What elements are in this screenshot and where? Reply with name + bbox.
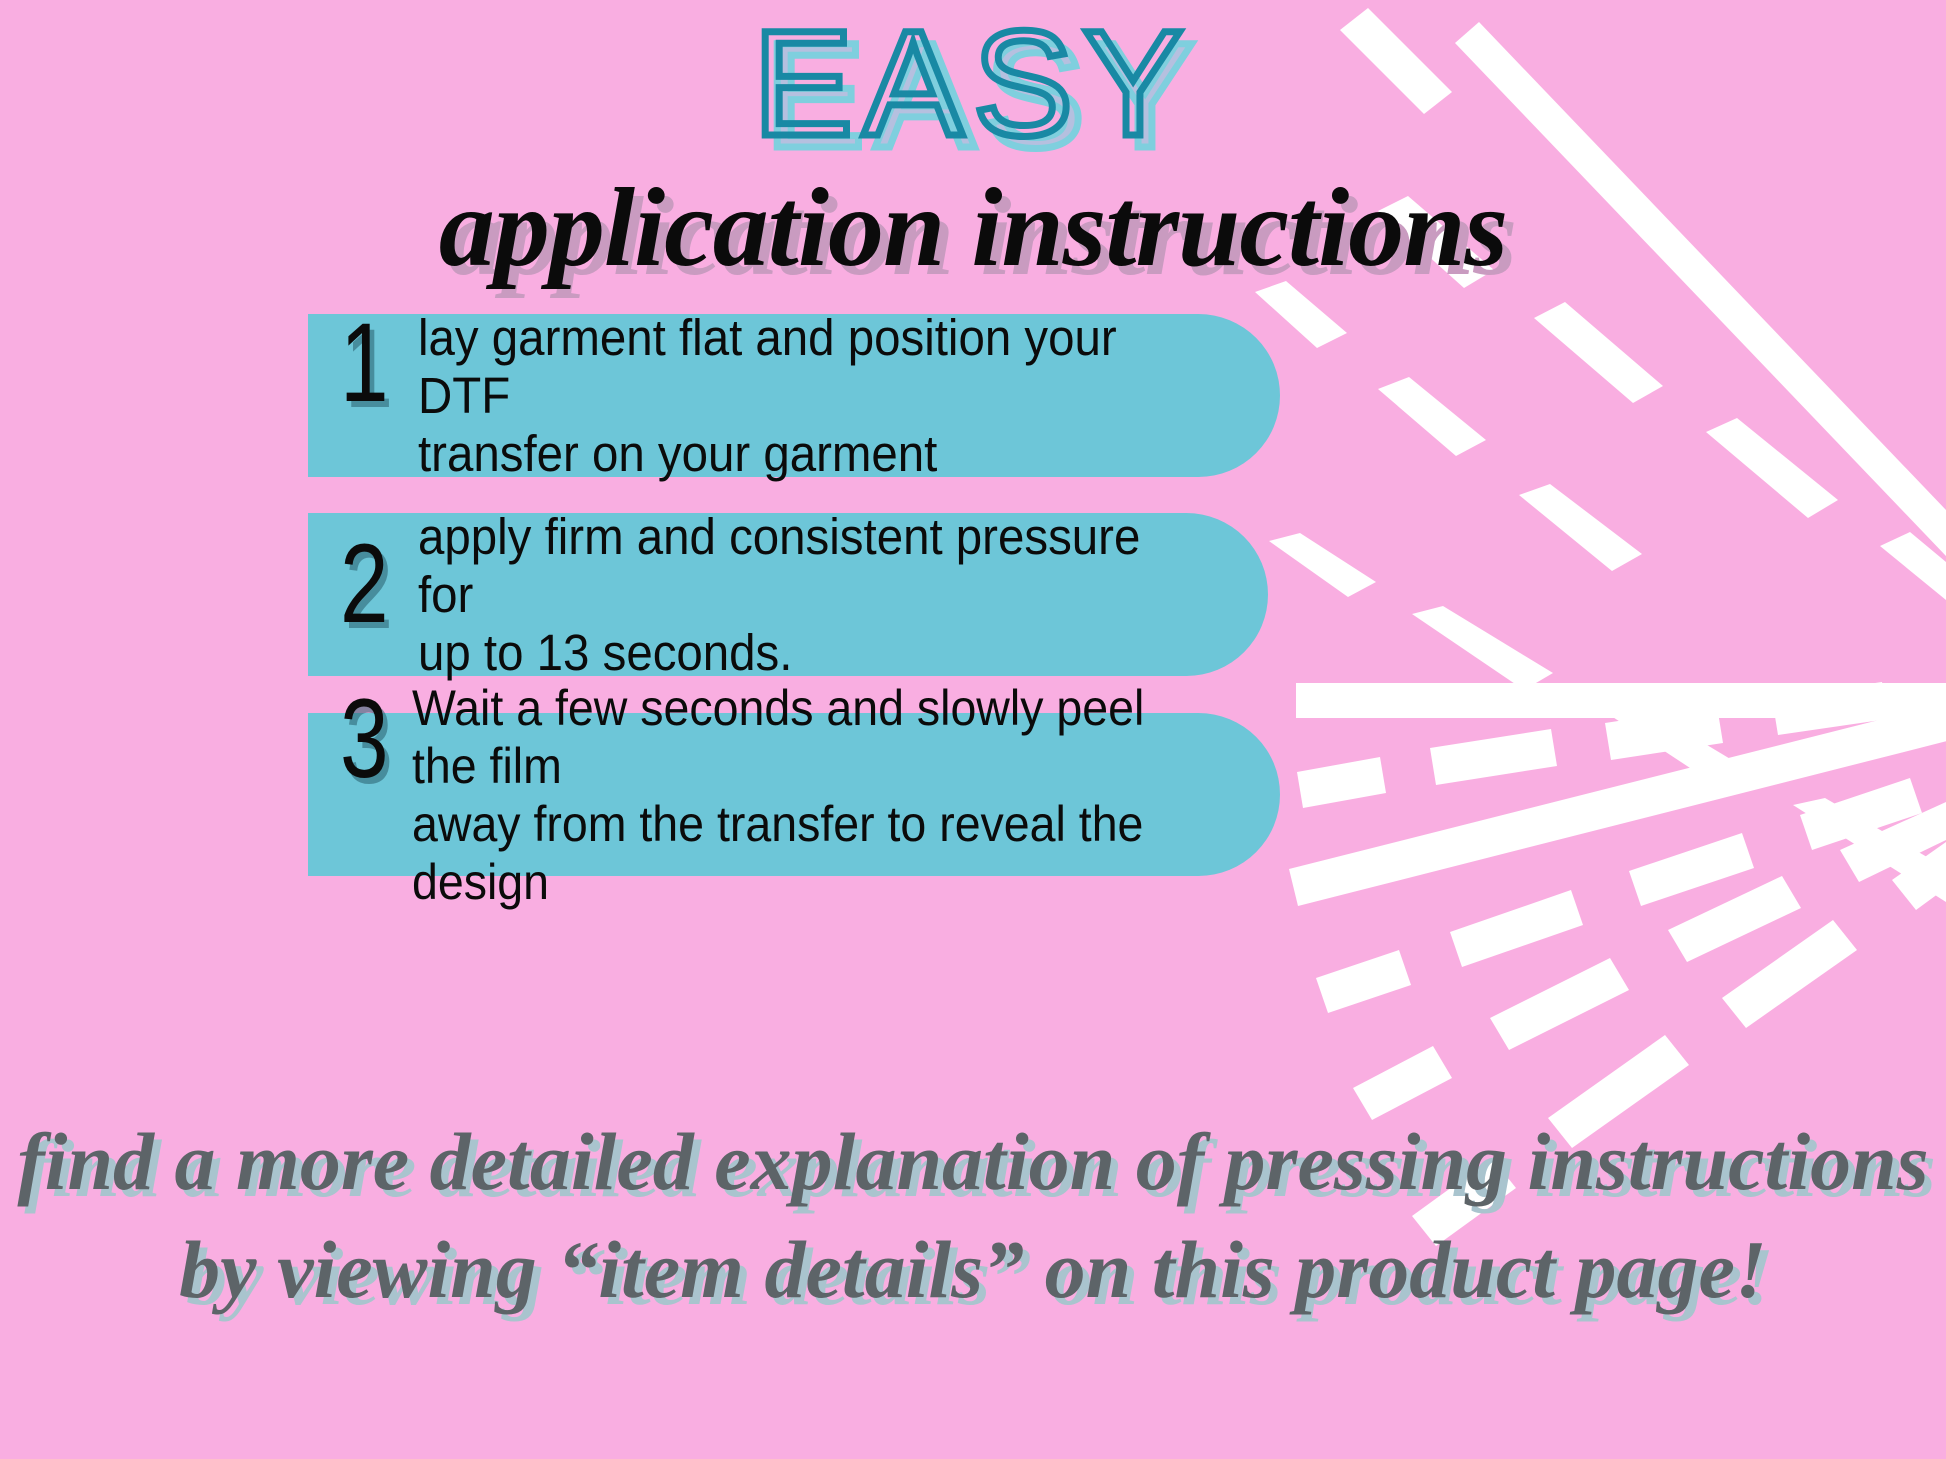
step-2-number: 2	[340, 534, 396, 634]
page-subtitle: application instructions	[0, 168, 1946, 288]
step-pill-3: 3 Wait a few seconds and slowly peel the…	[308, 713, 1280, 876]
step-2-content: 2 apply firm and consistent pressure for…	[308, 508, 1268, 682]
step-pill-2: 2 apply firm and consistent pressure for…	[308, 513, 1268, 676]
step-3-text: Wait a few seconds and slowly peel the f…	[412, 679, 1219, 911]
footer-caption-line-1: find a more detailed explanation of pres…	[17, 1116, 1928, 1207]
step-1-number: 1	[340, 313, 396, 413]
poster-canvas: EASY EASY EASY application instructions …	[0, 0, 1946, 1459]
footer-caption: find a more detailed explanation of pres…	[0, 1108, 1946, 1324]
step-1-text: lay garment flat and position your DTF t…	[418, 309, 1220, 483]
page-title: EASY EASY EASY	[0, 8, 1946, 178]
step-pill-1: 1 lay garment flat and position your DTF…	[308, 314, 1280, 477]
footer-caption-line-2: by viewing “item details” on this produc…	[0, 1216, 1946, 1324]
step-3-number: 3	[340, 689, 396, 789]
step-3-content: 3 Wait a few seconds and slowly peel the…	[308, 679, 1280, 911]
title-text: EASY	[753, 0, 1193, 167]
step-2-text: apply firm and consistent pressure for u…	[418, 508, 1209, 682]
step-1-content: 1 lay garment flat and position your DTF…	[308, 309, 1280, 483]
